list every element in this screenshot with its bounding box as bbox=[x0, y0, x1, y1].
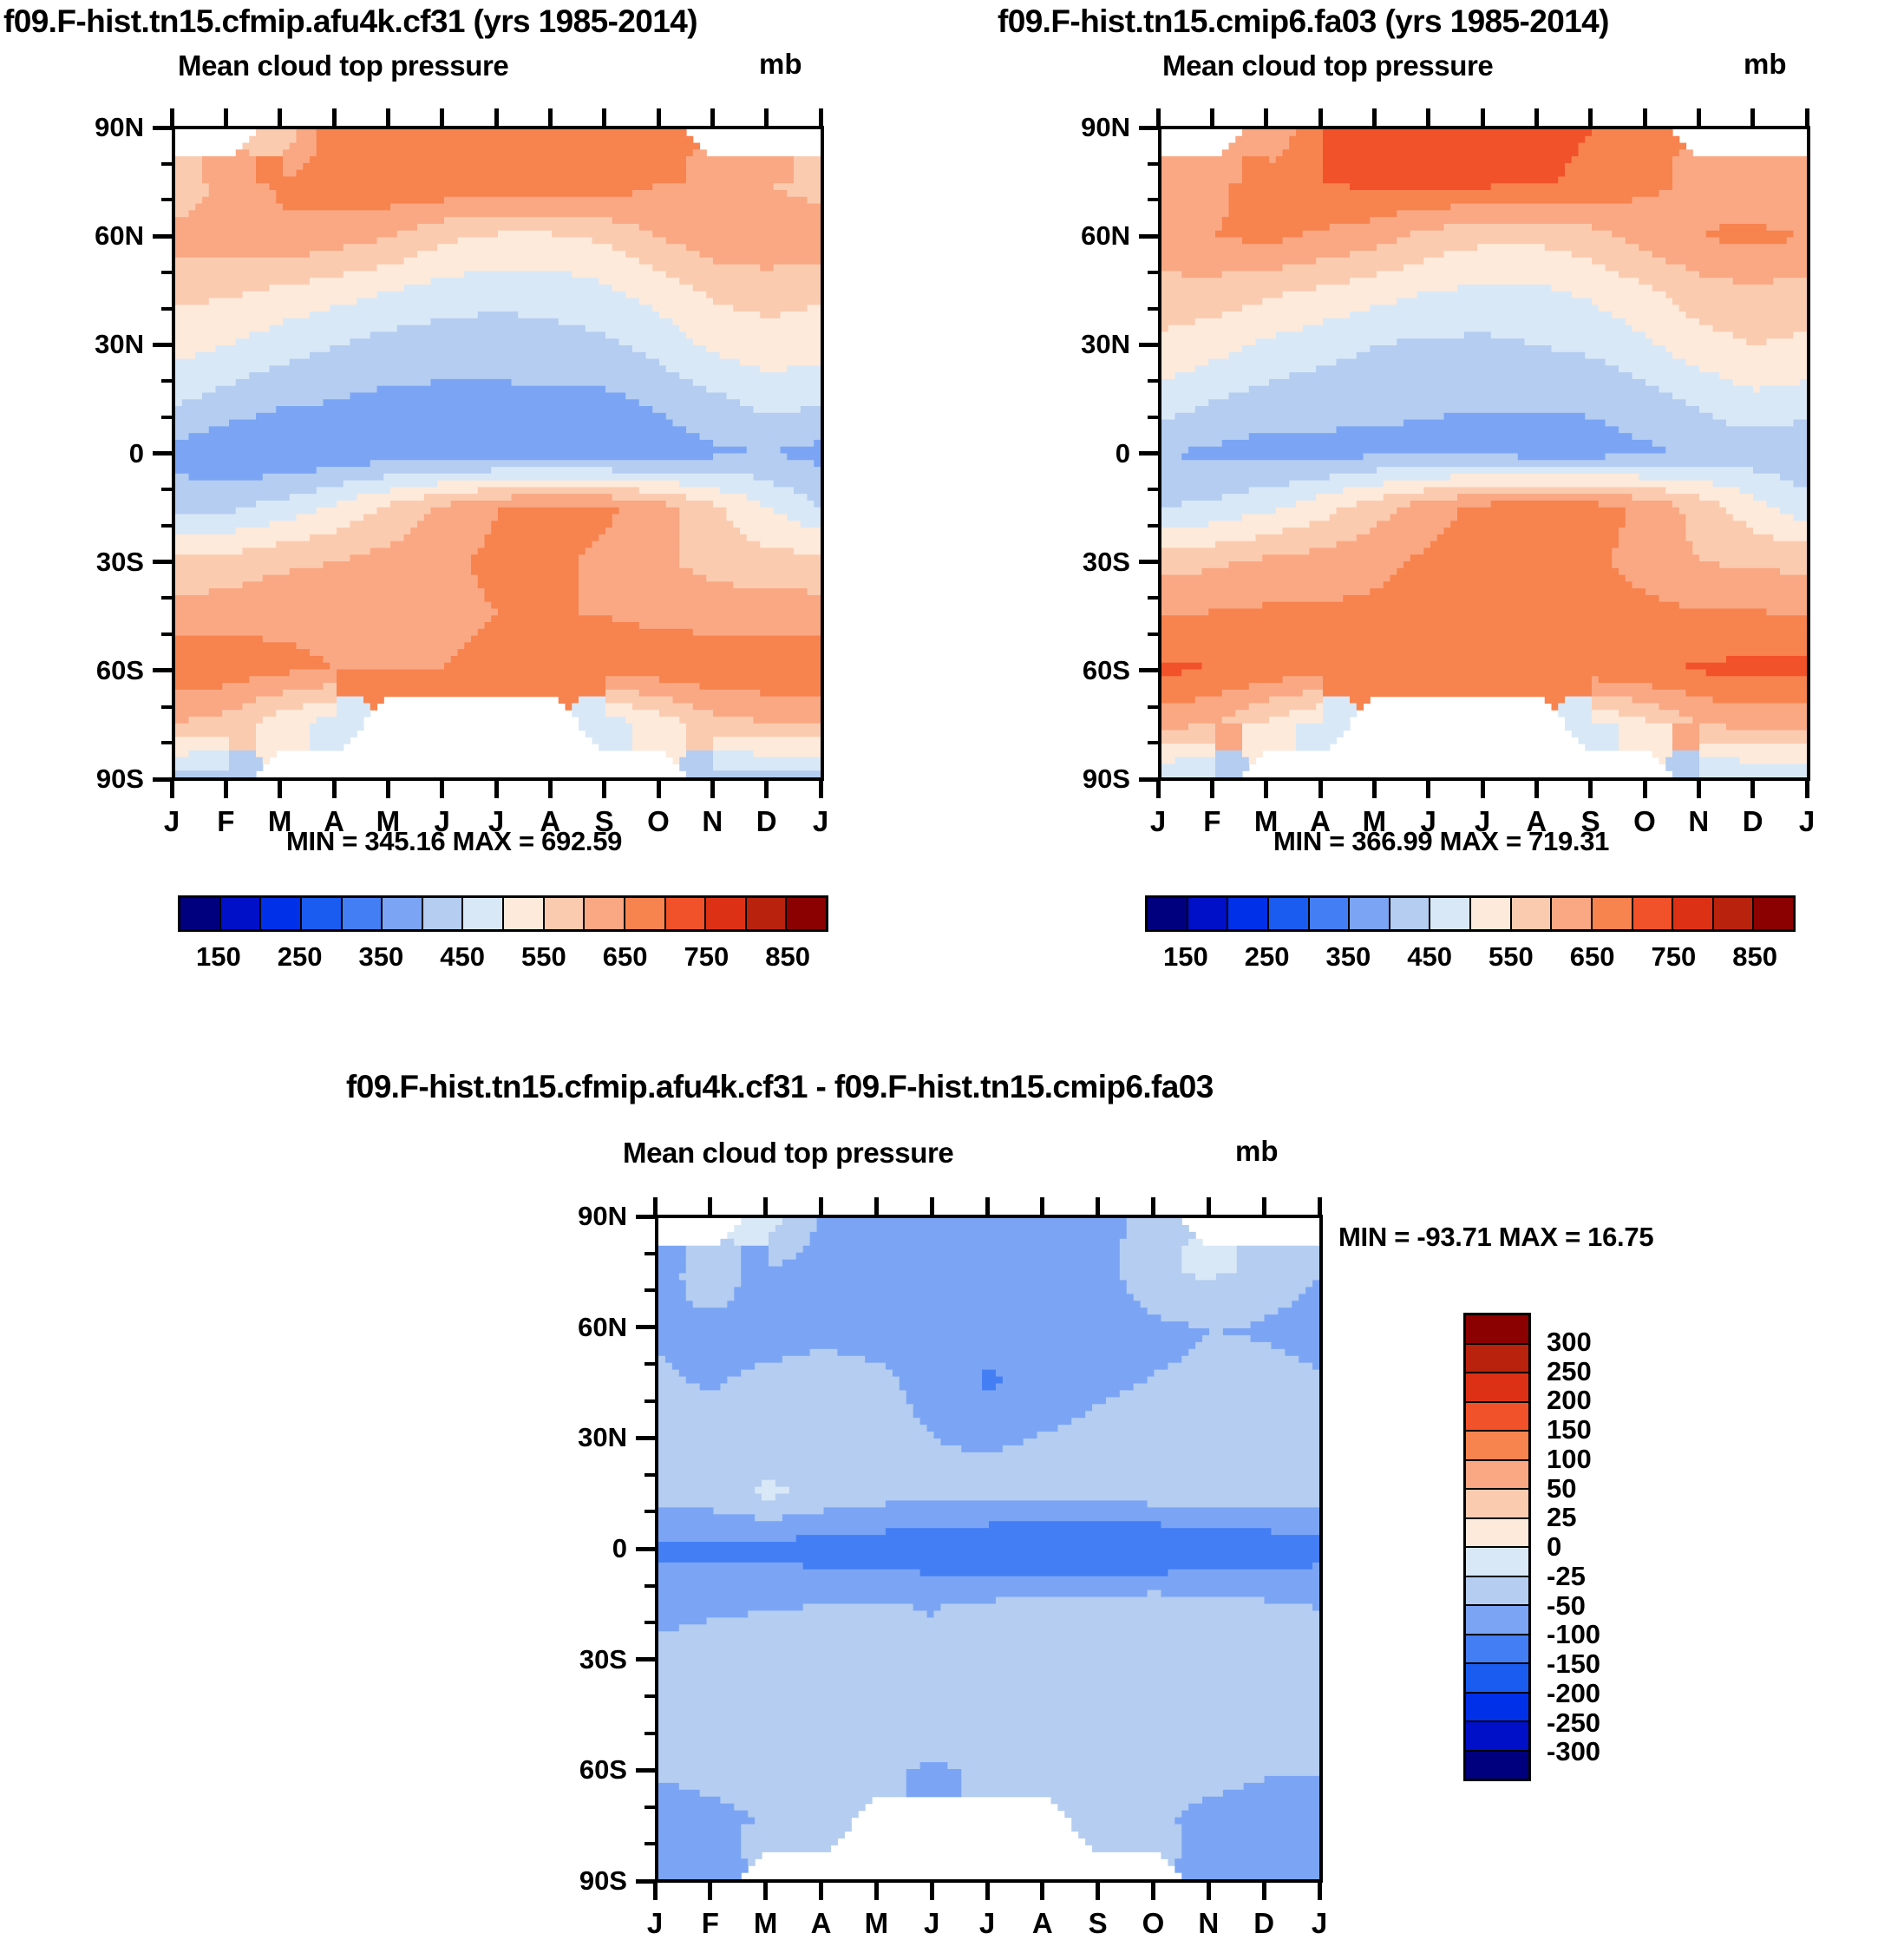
colorbar-swatch[interactable] bbox=[1466, 1490, 1528, 1519]
colorbar-tick-label: 25 bbox=[1547, 1502, 1576, 1533]
colorbar-swatch[interactable] bbox=[1350, 898, 1390, 929]
x-major-tick-top bbox=[763, 1197, 768, 1218]
y-minor-tick bbox=[161, 416, 173, 419]
y-minor-tick bbox=[161, 271, 173, 274]
colorbar-tick-label: -250 bbox=[1547, 1707, 1600, 1739]
colorbar-swatch[interactable] bbox=[1471, 898, 1512, 929]
colorbar-swatch[interactable] bbox=[625, 898, 666, 929]
colorbar-tick-label: -300 bbox=[1547, 1736, 1600, 1767]
left-panel-title: f09.F-hist.tn15.cfmip.afu4k.cf31 (yrs 19… bbox=[3, 3, 697, 40]
y-minor-tick bbox=[161, 741, 173, 744]
x-major-tick bbox=[763, 1879, 768, 1900]
diff-colorbar[interactable] bbox=[1463, 1313, 1531, 1781]
x-major-tick-top bbox=[602, 108, 606, 129]
y-minor-tick bbox=[161, 307, 173, 311]
right-minmax-label: MIN = 366.99 MAX = 719.31 bbox=[1273, 826, 1609, 857]
x-major-tick-top bbox=[170, 108, 174, 129]
x-major-tick bbox=[1318, 777, 1323, 798]
x-major-tick bbox=[653, 1879, 658, 1900]
x-axis-label: D bbox=[1253, 1907, 1274, 1940]
y-minor-tick bbox=[161, 162, 173, 166]
colorbar-swatch[interactable] bbox=[1754, 898, 1793, 929]
right-plot-area bbox=[1158, 126, 1810, 781]
y-axis-label: 30S bbox=[1019, 547, 1130, 578]
y-axis-label: 90N bbox=[33, 112, 144, 143]
colorbar-swatch[interactable] bbox=[1593, 898, 1633, 929]
colorbar-swatch[interactable] bbox=[1466, 1722, 1528, 1752]
x-major-tick bbox=[602, 777, 606, 798]
y-major-tick bbox=[153, 668, 173, 672]
colorbar-tick-label: 250 bbox=[1547, 1356, 1592, 1387]
x-axis-label: N bbox=[702, 805, 723, 838]
x-major-tick-top bbox=[440, 108, 444, 129]
y-major-tick bbox=[636, 1768, 657, 1773]
x-major-tick-top bbox=[1481, 108, 1485, 129]
x-major-tick bbox=[1264, 777, 1268, 798]
x-major-tick-top bbox=[1588, 108, 1593, 129]
x-axis-label: O bbox=[647, 805, 670, 838]
colorbar-swatch[interactable] bbox=[1466, 1432, 1528, 1461]
y-minor-tick bbox=[1148, 741, 1160, 744]
x-major-tick bbox=[1643, 777, 1647, 798]
y-minor-tick bbox=[1148, 596, 1160, 600]
x-major-tick bbox=[930, 1879, 934, 1900]
x-axis-label: J bbox=[924, 1907, 939, 1940]
colorbar-tick-label: 300 bbox=[1547, 1327, 1592, 1358]
y-minor-tick bbox=[1148, 524, 1160, 528]
right-contour-field bbox=[1161, 129, 1807, 777]
x-major-tick-top bbox=[1262, 1197, 1266, 1218]
colorbar-swatch[interactable] bbox=[1310, 898, 1351, 929]
x-major-tick bbox=[440, 777, 444, 798]
x-axis-label: J bbox=[1150, 805, 1166, 838]
x-axis-label: N bbox=[1198, 1907, 1219, 1940]
y-minor-tick bbox=[644, 1362, 657, 1366]
colorbar-tick-label: 750 bbox=[1652, 941, 1697, 973]
x-axis-label: F bbox=[702, 1907, 719, 1940]
x-axis-label: D bbox=[1743, 805, 1763, 838]
x-major-tick-top bbox=[224, 108, 228, 129]
x-major-tick bbox=[1207, 1879, 1211, 1900]
y-minor-tick bbox=[1148, 271, 1160, 274]
y-major-tick bbox=[1139, 668, 1160, 672]
x-major-tick-top bbox=[1318, 108, 1323, 129]
x-major-tick-top bbox=[386, 108, 390, 129]
x-major-tick-top bbox=[278, 108, 282, 129]
x-major-tick bbox=[764, 777, 769, 798]
y-axis-label: 0 bbox=[516, 1533, 627, 1564]
x-major-tick-top bbox=[1697, 108, 1701, 129]
y-axis-label: 60S bbox=[33, 655, 144, 686]
x-major-tick bbox=[1156, 777, 1161, 798]
y-minor-tick bbox=[161, 524, 173, 528]
colorbar-tick-label: 150 bbox=[196, 941, 241, 973]
right-panel-subtitle: Mean cloud top pressure bbox=[1162, 49, 1493, 82]
y-minor-tick bbox=[644, 1473, 657, 1477]
colorbar-swatch[interactable] bbox=[463, 898, 504, 929]
y-minor-tick bbox=[644, 1732, 657, 1735]
colorbar-swatch[interactable] bbox=[1466, 1664, 1528, 1694]
x-major-tick bbox=[1210, 777, 1214, 798]
x-major-tick bbox=[1697, 777, 1701, 798]
x-major-tick bbox=[708, 1879, 712, 1900]
colorbar-tick-label: 650 bbox=[1570, 941, 1615, 973]
y-major-tick bbox=[636, 1657, 657, 1661]
left-contour-field bbox=[175, 129, 821, 777]
diff-panel-subtitle: Mean cloud top pressure bbox=[623, 1137, 953, 1170]
x-major-tick bbox=[1040, 1879, 1044, 1900]
colorbar-swatch[interactable] bbox=[383, 898, 423, 929]
colorbar-swatch[interactable] bbox=[1466, 1315, 1528, 1345]
x-major-tick-top bbox=[494, 108, 499, 129]
colorbar-swatch[interactable] bbox=[666, 898, 707, 929]
x-major-tick-top bbox=[985, 1197, 990, 1218]
x-axis-label: J bbox=[1799, 805, 1815, 838]
colorbar-tick-label: 850 bbox=[765, 941, 810, 973]
colorbar-tick-label: 550 bbox=[521, 941, 566, 973]
colorbar-swatch[interactable] bbox=[302, 898, 343, 929]
x-major-tick-top bbox=[332, 108, 337, 129]
x-major-tick bbox=[494, 777, 499, 798]
x-axis-label: M bbox=[865, 1907, 889, 1940]
colorbar-tick-label: 100 bbox=[1547, 1444, 1592, 1475]
x-major-tick-top bbox=[764, 108, 769, 129]
x-axis-label: F bbox=[1203, 805, 1220, 838]
y-axis-label: 0 bbox=[33, 438, 144, 469]
colorbar-swatch[interactable] bbox=[1673, 898, 1714, 929]
y-major-tick bbox=[153, 451, 173, 456]
x-major-tick-top bbox=[1040, 1197, 1044, 1218]
left-minmax-label: MIN = 345.16 MAX = 692.59 bbox=[286, 826, 622, 857]
colorbar-swatch[interactable] bbox=[1466, 1548, 1528, 1577]
x-major-tick bbox=[386, 777, 390, 798]
colorbar-tick-label: 750 bbox=[684, 941, 730, 973]
y-minor-tick bbox=[161, 596, 173, 600]
colorbar-swatch[interactable] bbox=[1466, 1752, 1528, 1779]
colorbar-tick-label: 200 bbox=[1547, 1385, 1592, 1416]
y-minor-tick bbox=[644, 1288, 657, 1292]
colorbar-swatch[interactable] bbox=[261, 898, 302, 929]
colorbar-tick-label: 0 bbox=[1547, 1531, 1561, 1563]
y-minor-tick bbox=[644, 1621, 657, 1624]
y-major-tick bbox=[1139, 560, 1160, 564]
diff-panel-title: f09.F-hist.tn15.cfmip.afu4k.cf31 - f09.F… bbox=[346, 1069, 1214, 1105]
y-axis-label: 30N bbox=[33, 329, 144, 360]
y-major-tick bbox=[153, 343, 173, 347]
right-panel-units: mb bbox=[1744, 48, 1787, 81]
y-major-tick bbox=[636, 1325, 657, 1329]
y-minor-tick bbox=[1148, 198, 1160, 201]
x-major-tick-top bbox=[1534, 108, 1539, 129]
x-axis-label: J bbox=[1312, 1907, 1327, 1940]
colorbar-tick-label: -200 bbox=[1547, 1678, 1600, 1709]
y-major-tick bbox=[153, 234, 173, 239]
x-major-tick bbox=[1805, 777, 1809, 798]
colorbar-swatch[interactable] bbox=[1188, 898, 1229, 929]
x-major-tick bbox=[819, 1879, 823, 1900]
y-minor-tick bbox=[1148, 488, 1160, 491]
y-minor-tick bbox=[644, 1806, 657, 1809]
x-major-tick-top bbox=[1750, 108, 1755, 129]
x-major-tick-top bbox=[1156, 108, 1161, 129]
colorbar-tick-label: 450 bbox=[440, 941, 485, 973]
x-major-tick-top bbox=[1264, 108, 1268, 129]
x-axis-label: J bbox=[164, 805, 180, 838]
y-axis-label: 60N bbox=[33, 220, 144, 252]
diff-plot-area bbox=[655, 1215, 1323, 1883]
colorbar-tick-label: -150 bbox=[1547, 1648, 1600, 1680]
colorbar-tick-label: 350 bbox=[1326, 941, 1371, 973]
y-major-tick bbox=[636, 1436, 657, 1440]
x-major-tick bbox=[1534, 777, 1539, 798]
x-axis-label: J bbox=[979, 1907, 995, 1940]
colorbar-swatch[interactable] bbox=[180, 898, 221, 929]
colorbar-swatch[interactable] bbox=[343, 898, 383, 929]
x-major-tick-top bbox=[710, 108, 715, 129]
colorbar-tick-label: -25 bbox=[1547, 1561, 1586, 1592]
left-panel-units: mb bbox=[759, 48, 802, 81]
x-axis-label: A bbox=[811, 1907, 832, 1940]
x-major-tick-top bbox=[657, 108, 661, 129]
colorbar-tick-label: 450 bbox=[1407, 941, 1452, 973]
x-major-tick bbox=[874, 1879, 879, 1900]
colorbar-swatch[interactable] bbox=[1390, 898, 1431, 929]
y-minor-tick bbox=[161, 198, 173, 201]
y-minor-tick bbox=[1148, 379, 1160, 383]
colorbar-swatch[interactable] bbox=[706, 898, 747, 929]
x-major-tick-top bbox=[1372, 108, 1377, 129]
x-major-tick-top bbox=[874, 1197, 879, 1218]
y-axis-label: 30N bbox=[1019, 329, 1130, 360]
x-major-tick-top bbox=[708, 1197, 712, 1218]
x-axis-label: A bbox=[1032, 1907, 1053, 1940]
y-major-tick bbox=[1139, 234, 1160, 239]
y-axis-label: 90S bbox=[516, 1865, 627, 1897]
colorbar-swatch[interactable] bbox=[221, 898, 262, 929]
y-minor-tick bbox=[1148, 162, 1160, 166]
x-major-tick-top bbox=[1151, 1197, 1155, 1218]
colorbar-tick-label: 50 bbox=[1547, 1473, 1576, 1504]
x-major-tick-top bbox=[819, 108, 823, 129]
colorbar-swatch[interactable] bbox=[1466, 1519, 1528, 1549]
y-axis-label: 90N bbox=[1019, 112, 1130, 143]
y-minor-tick bbox=[1148, 632, 1160, 636]
y-minor-tick bbox=[644, 1252, 657, 1255]
x-major-tick-top bbox=[1210, 108, 1214, 129]
y-axis-label: 60N bbox=[516, 1312, 627, 1343]
y-major-tick bbox=[153, 560, 173, 564]
colorbar-swatch[interactable] bbox=[504, 898, 545, 929]
x-major-tick bbox=[548, 777, 553, 798]
colorbar-swatch[interactable] bbox=[545, 898, 586, 929]
colorbar-tick-label: 850 bbox=[1732, 941, 1777, 973]
y-minor-tick bbox=[644, 1694, 657, 1698]
y-minor-tick bbox=[161, 379, 173, 383]
y-minor-tick bbox=[644, 1399, 657, 1403]
colorbar-swatch[interactable] bbox=[1466, 1606, 1528, 1635]
y-minor-tick bbox=[1148, 705, 1160, 709]
left-plot-area bbox=[172, 126, 824, 781]
colorbar-swatch[interactable] bbox=[1552, 898, 1593, 929]
colorbar-swatch[interactable] bbox=[1714, 898, 1755, 929]
colorbar-tick-label: -50 bbox=[1547, 1590, 1586, 1622]
colorbar-swatch[interactable] bbox=[1466, 1635, 1528, 1665]
y-axis-label: 90S bbox=[33, 764, 144, 795]
colorbar-tick-label: 150 bbox=[1163, 941, 1208, 973]
y-minor-tick bbox=[161, 488, 173, 491]
colorbar-tick-label: 250 bbox=[278, 941, 323, 973]
colorbar-swatch[interactable] bbox=[1466, 1345, 1528, 1374]
x-major-tick bbox=[1096, 1879, 1100, 1900]
x-major-tick-top bbox=[1096, 1197, 1100, 1218]
x-major-tick bbox=[819, 777, 823, 798]
colorbar-tick-label: 550 bbox=[1489, 941, 1534, 973]
y-minor-tick bbox=[161, 632, 173, 636]
right-panel-title: f09.F-hist.tn15.cmip6.fa03 (yrs 1985-201… bbox=[998, 3, 1609, 40]
y-major-tick bbox=[1139, 343, 1160, 347]
colorbar-swatch[interactable] bbox=[585, 898, 625, 929]
colorbar-swatch[interactable] bbox=[1466, 1694, 1528, 1723]
colorbar-tick-label: -100 bbox=[1547, 1619, 1600, 1650]
colorbar-tick-label: 350 bbox=[359, 941, 404, 973]
colorbar-tick-label: 250 bbox=[1245, 941, 1290, 973]
x-axis-label: F bbox=[217, 805, 234, 838]
x-major-tick bbox=[657, 777, 661, 798]
x-major-tick-top bbox=[1643, 108, 1647, 129]
colorbar-swatch[interactable] bbox=[1430, 898, 1471, 929]
y-minor-tick bbox=[644, 1584, 657, 1588]
colorbar-swatch[interactable] bbox=[1466, 1461, 1528, 1491]
x-axis-label: N bbox=[1688, 805, 1709, 838]
right-colorbar[interactable] bbox=[1145, 895, 1796, 932]
x-axis-label: S bbox=[1089, 1907, 1108, 1940]
x-major-tick bbox=[1481, 777, 1485, 798]
x-major-tick bbox=[710, 777, 715, 798]
colorbar-swatch[interactable] bbox=[747, 898, 788, 929]
y-minor-tick bbox=[1148, 416, 1160, 419]
colorbar-swatch[interactable] bbox=[1228, 898, 1269, 929]
x-major-tick bbox=[1372, 777, 1377, 798]
x-major-tick-top bbox=[1426, 108, 1430, 129]
colorbar-swatch[interactable] bbox=[1633, 898, 1674, 929]
x-axis-label: M bbox=[754, 1907, 778, 1940]
x-major-tick bbox=[170, 777, 174, 798]
y-minor-tick bbox=[644, 1842, 657, 1845]
y-axis-label: 60N bbox=[1019, 220, 1130, 252]
x-major-tick bbox=[1318, 1879, 1322, 1900]
x-major-tick-top bbox=[548, 108, 553, 129]
colorbar-swatch[interactable] bbox=[1466, 1577, 1528, 1607]
diff-minmax-label: MIN = -93.71 MAX = 16.75 bbox=[1338, 1222, 1653, 1253]
x-major-tick-top bbox=[930, 1197, 934, 1218]
y-axis-label: 30S bbox=[33, 547, 144, 578]
y-axis-label: 60S bbox=[1019, 655, 1130, 686]
y-major-tick bbox=[636, 1547, 657, 1551]
x-major-tick bbox=[985, 1879, 990, 1900]
colorbar-swatch[interactable] bbox=[1269, 898, 1310, 929]
colorbar-swatch[interactable] bbox=[1466, 1403, 1528, 1432]
colorbar-swatch[interactable] bbox=[787, 898, 826, 929]
colorbar-tick-label: 650 bbox=[603, 941, 648, 973]
x-axis-label: D bbox=[756, 805, 777, 838]
colorbar-swatch[interactable] bbox=[1512, 898, 1553, 929]
x-major-tick bbox=[1750, 777, 1755, 798]
colorbar-swatch[interactable] bbox=[1466, 1373, 1528, 1403]
left-colorbar[interactable] bbox=[178, 895, 828, 932]
diff-panel-units: mb bbox=[1235, 1135, 1279, 1168]
y-axis-label: 0 bbox=[1019, 438, 1130, 469]
y-axis-label: 30N bbox=[516, 1422, 627, 1453]
y-minor-tick bbox=[161, 705, 173, 709]
y-axis-label: 90N bbox=[516, 1201, 627, 1232]
x-axis-label: O bbox=[1142, 1907, 1165, 1940]
x-major-tick bbox=[332, 777, 337, 798]
y-minor-tick bbox=[1148, 307, 1160, 311]
x-major-tick bbox=[224, 777, 228, 798]
colorbar-tick-label: 150 bbox=[1547, 1414, 1592, 1445]
x-major-tick bbox=[1262, 1879, 1266, 1900]
y-major-tick bbox=[1139, 451, 1160, 456]
left-panel-subtitle: Mean cloud top pressure bbox=[178, 49, 508, 82]
y-axis-label: 90S bbox=[1019, 764, 1130, 795]
x-major-tick-top bbox=[819, 1197, 823, 1218]
x-axis-label: J bbox=[813, 805, 828, 838]
x-major-tick bbox=[1588, 777, 1593, 798]
x-axis-label: O bbox=[1633, 805, 1656, 838]
x-axis-label: J bbox=[647, 1907, 663, 1940]
x-major-tick bbox=[1151, 1879, 1155, 1900]
x-major-tick bbox=[1426, 777, 1430, 798]
y-axis-label: 60S bbox=[516, 1754, 627, 1786]
y-minor-tick bbox=[644, 1510, 657, 1513]
colorbar-swatch[interactable] bbox=[423, 898, 464, 929]
diff-contour-field bbox=[658, 1218, 1319, 1879]
colorbar-swatch[interactable] bbox=[1148, 898, 1188, 929]
y-axis-label: 30S bbox=[516, 1644, 627, 1675]
x-major-tick-top bbox=[1805, 108, 1809, 129]
x-major-tick-top bbox=[653, 1197, 658, 1218]
x-major-tick-top bbox=[1207, 1197, 1211, 1218]
x-major-tick bbox=[278, 777, 282, 798]
x-major-tick-top bbox=[1318, 1197, 1322, 1218]
